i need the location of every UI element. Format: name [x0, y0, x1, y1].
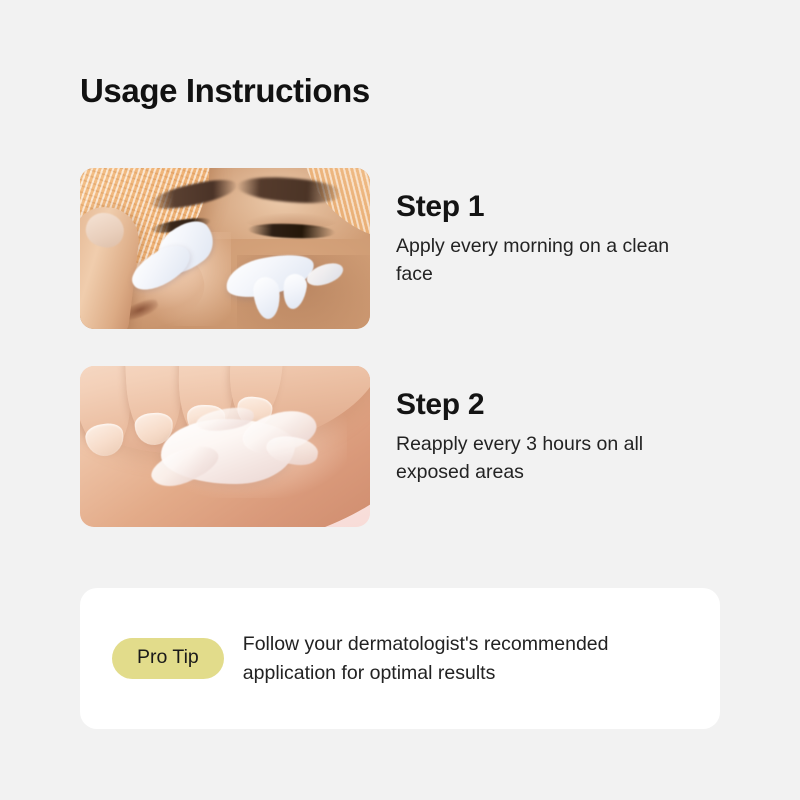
step-1-description: Apply every morning on a clean face: [396, 233, 696, 288]
usage-instructions-page: Usage Instructions Step: [0, 0, 800, 800]
step-2-text-block: Step 2 Reapply every 3 hours on all expo…: [370, 366, 696, 486]
pro-tip-text: Follow your dermatologist's recommended …: [224, 630, 688, 687]
step-row-1: Step 1 Apply every morning on a clean fa…: [80, 168, 720, 329]
step-2-description: Reapply every 3 hours on all exposed are…: [396, 431, 696, 486]
step-1-heading: Step 1: [396, 190, 696, 223]
step-1-photo-face-sunscreen: [80, 168, 370, 329]
pro-tip-badge: Pro Tip: [112, 638, 224, 679]
step-2-photo-hand-cream: [80, 366, 370, 527]
step-1-text-block: Step 1 Apply every morning on a clean fa…: [370, 168, 696, 288]
step-2-heading: Step 2: [396, 388, 696, 421]
pro-tip-card: Pro Tip Follow your dermatologist's reco…: [80, 588, 720, 729]
page-title: Usage Instructions: [80, 72, 370, 110]
step-row-2: Step 2 Reapply every 3 hours on all expo…: [80, 366, 720, 527]
